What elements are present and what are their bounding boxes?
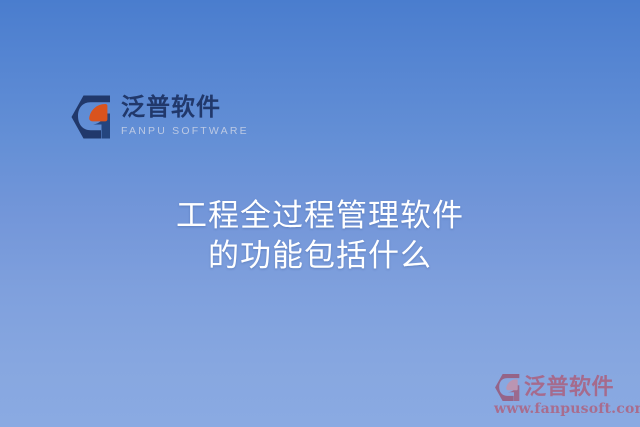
watermark-brand-name: 泛普软件	[524, 375, 614, 401]
brand-text-block: 泛普软件 FANPU SOFTWARE	[121, 92, 249, 138]
watermark-logo-row: 泛普软件	[494, 373, 634, 402]
fanpu-hexagon-swoosh-logo-icon	[70, 94, 114, 140]
headline-line-1: 工程全过程管理软件	[0, 196, 640, 236]
promo-banner: 泛普软件 FANPU SOFTWARE 工程全过程管理软件 的功能包括什么 泛普…	[0, 0, 640, 427]
headline-line-2: 的功能包括什么	[0, 236, 640, 276]
watermark: 泛普软件 www.fanpusoft.com	[494, 373, 634, 418]
fanpu-hexagon-swoosh-logo-watermark-icon	[494, 373, 522, 402]
watermark-url: www.fanpusoft.com	[494, 401, 634, 418]
brand-logo: 泛普软件 FANPU SOFTWARE	[70, 92, 249, 140]
banner-headline: 工程全过程管理软件 的功能包括什么	[0, 196, 640, 276]
brand-name: 泛普软件	[121, 92, 249, 122]
brand-subtitle: FANPU SOFTWARE	[121, 124, 249, 138]
